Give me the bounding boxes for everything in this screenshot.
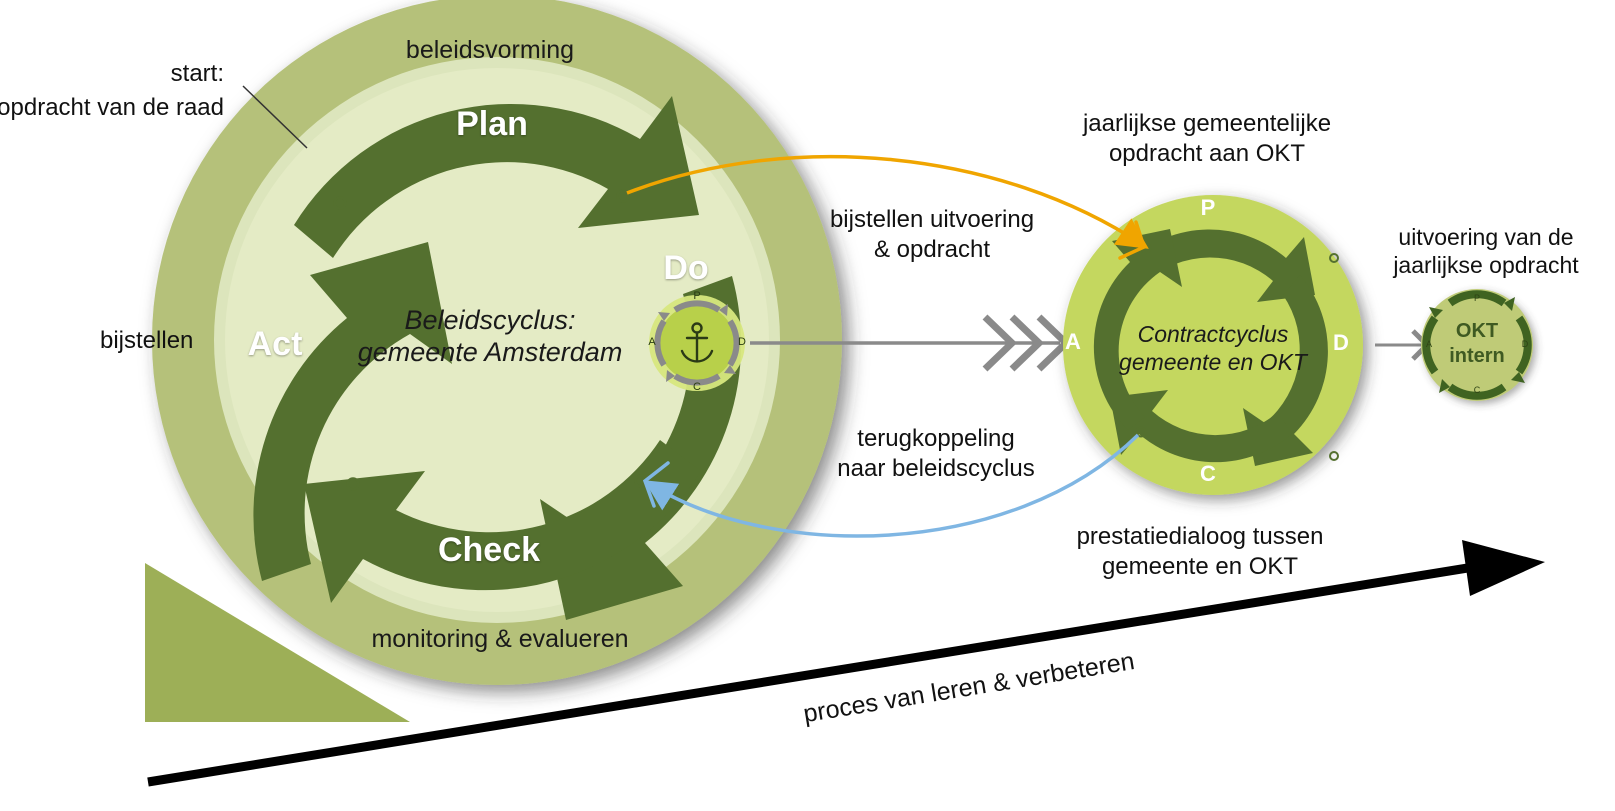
contract-letter-d: D (1333, 330, 1349, 356)
contract-center-line2: gemeente en OKT (1119, 349, 1307, 376)
step-label-act: Act (248, 324, 303, 364)
mini-letter-d: D (738, 336, 746, 349)
annotation-bijstellen: bijstellen (100, 327, 193, 355)
ring-label-monitoring: monitoring & evalueren (371, 625, 628, 655)
mini-pdca-anchor-wheel (649, 295, 745, 391)
annotation-jaarlijkse-line1: jaarlijkse gemeentelijke (1083, 110, 1331, 138)
okt-letter-a: A (1426, 339, 1432, 350)
annotation-start-line2: opdracht van de raad (0, 94, 224, 122)
marker-contract-c-end (1330, 452, 1338, 460)
annotation-jaarlijkse-line2: opdracht aan OKT (1109, 140, 1305, 168)
annotation-uitvoering-line2: jaarlijkse opdracht (1393, 252, 1578, 279)
okt-letter-p: P (1474, 293, 1480, 304)
step-label-plan: Plan (456, 104, 528, 144)
annotation-prestatiedialoog-line1: prestatiedialoog tussen (1077, 523, 1324, 551)
diagram-canvas: beleidsvorming monitoring & evalueren Pl… (0, 0, 1615, 811)
okt-center-line2: intern (1449, 345, 1505, 368)
mini-letter-a: A (648, 336, 655, 349)
annotation-start-line1: start: (171, 60, 224, 88)
okt-center-line1: OKT (1456, 320, 1498, 343)
contract-center-line1: Contractcyclus (1138, 321, 1289, 348)
annotation-terugkoppeling-line1: terugkoppeling (857, 425, 1014, 453)
annotation-uitvoering-line1: uitvoering van de (1398, 224, 1573, 251)
okt-letter-d: D (1522, 339, 1529, 350)
annotation-prestatiedialoog-line2: gemeente en OKT (1102, 553, 1298, 581)
contract-letter-c: C (1200, 461, 1216, 487)
contract-letter-a: A (1065, 329, 1081, 355)
annotation-terugkoppeling-line2: naar beleidscyclus (837, 455, 1034, 483)
mini-letter-c: C (693, 381, 701, 394)
ring-label-beleidsvorming: beleidsvorming (406, 36, 574, 66)
annotation-bijstellen-uitvoering-line2: & opdracht (874, 236, 990, 264)
step-label-do: Do (663, 248, 708, 288)
policy-center-line1: Beleidscyclus: (404, 305, 575, 337)
policy-center-line2: gemeente Amsterdam (358, 337, 623, 369)
mini-letter-p: P (693, 290, 700, 303)
okt-letter-c: C (1474, 385, 1481, 396)
diagram-graphics (0, 0, 1615, 811)
step-label-check: Check (438, 530, 540, 570)
annotation-bijstellen-uitvoering-line1: bijstellen uitvoering (830, 206, 1034, 234)
contract-letter-p: P (1201, 195, 1216, 221)
